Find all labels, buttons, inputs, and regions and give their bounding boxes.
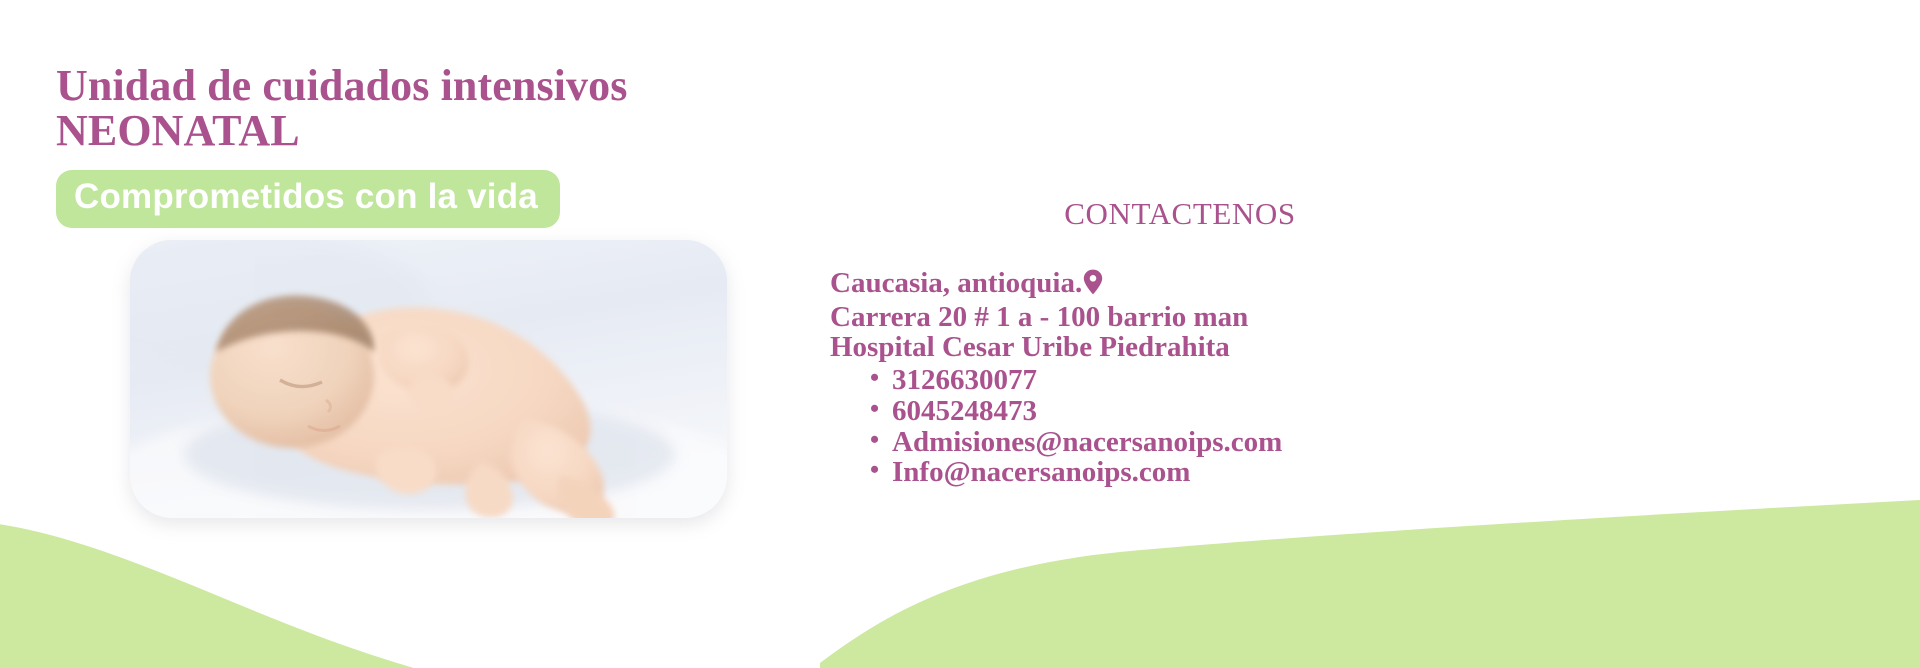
list-item-phone-2[interactable]: 6045248473 [892, 396, 1530, 427]
contact-details-list: 3126630077 6045248473 Admisiones@nacersa… [830, 365, 1530, 488]
list-item-email-admisiones[interactable]: Admisiones@nacersanoips.com [892, 427, 1530, 458]
map-pin-icon [1083, 269, 1103, 302]
newborn-photo-card [130, 240, 727, 518]
contact-city-text: Caucasia, antioquia. [830, 267, 1082, 299]
contact-address-line-hospital: Hospital Cesar Uribe Piedrahita [830, 332, 1530, 363]
contact-heading: CONTACTENOS [830, 196, 1530, 232]
list-item-email-info[interactable]: Info@nacersanoips.com [892, 457, 1530, 488]
contact-section: CONTACTENOS Caucasia, antioquia. Carrera… [830, 196, 1530, 488]
list-item-phone-1[interactable]: 3126630077 [892, 365, 1530, 396]
newborn-photo [130, 240, 727, 518]
tagline-badge: Comprometidos con la vida [56, 170, 560, 228]
contact-address-block: Caucasia, antioquia. Carrera 20 # 1 a - … [830, 268, 1530, 363]
contact-address-line-city: Caucasia, antioquia. [830, 268, 1530, 302]
page-title: Unidad de cuidados intensivos NEONATAL [56, 64, 776, 154]
hero-text-column: Unidad de cuidados intensivos NEONATAL C… [56, 64, 776, 228]
neonatal-banner: Unidad de cuidados intensivos NEONATAL C… [0, 0, 1920, 668]
contact-address-line-street: Carrera 20 # 1 a - 100 barrio man [830, 302, 1530, 333]
